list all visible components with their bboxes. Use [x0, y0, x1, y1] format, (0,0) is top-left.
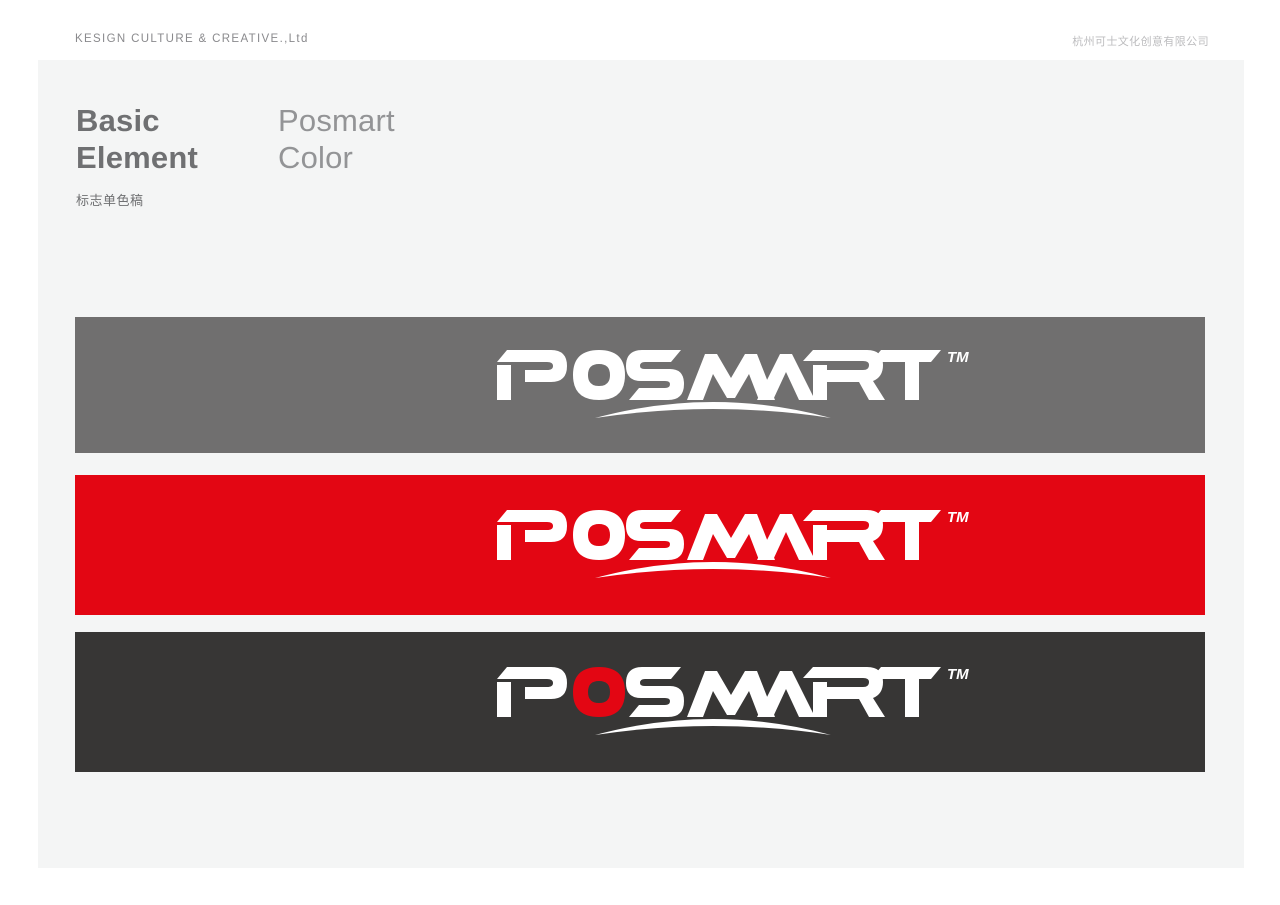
- posmart-logo-icon: TM: [495, 665, 795, 739]
- posmart-logo-icon: TM: [495, 348, 795, 422]
- color-swatch-band-gray: TM: [75, 317, 1205, 453]
- page-subject: Posmart Color: [278, 102, 395, 176]
- page-title-line2: Element: [76, 139, 198, 176]
- title-row: Basic Element Posmart Color: [76, 102, 676, 184]
- content-panel: Basic Element Posmart Color 标志单色稿: [38, 60, 1244, 868]
- posmart-logo-dark: TM: [495, 665, 795, 739]
- posmart-logo-icon: TM: [495, 508, 795, 582]
- company-name-latin: KESIGN CULTURE & CREATIVE.,Ltd: [75, 33, 309, 45]
- trademark-symbol: TM: [947, 666, 969, 683]
- page-subject-line2: Color: [278, 139, 395, 176]
- trademark-symbol: TM: [947, 349, 969, 366]
- page-header: KESIGN CULTURE & CREATIVE.,Ltd 杭州可士文化创意有…: [0, 0, 1280, 60]
- posmart-logo-gray: TM: [495, 348, 795, 422]
- trademark-symbol: TM: [947, 509, 969, 526]
- posmart-logo-red: TM: [495, 508, 795, 582]
- posmart-logo-o-accent: [573, 667, 625, 717]
- page-title-line1: Basic: [76, 103, 160, 138]
- page-title: Basic Element: [76, 102, 198, 176]
- page-subtitle-chinese: 标志单色稿: [76, 190, 144, 209]
- page-subject-line1: Posmart: [278, 103, 395, 138]
- company-name-chinese: 杭州可士文化创意有限公司: [1072, 33, 1209, 49]
- page-title-block: Basic Element Posmart Color: [76, 102, 676, 184]
- color-swatch-band-red: TM: [75, 475, 1205, 615]
- color-swatch-band-dark: TM: [75, 632, 1205, 772]
